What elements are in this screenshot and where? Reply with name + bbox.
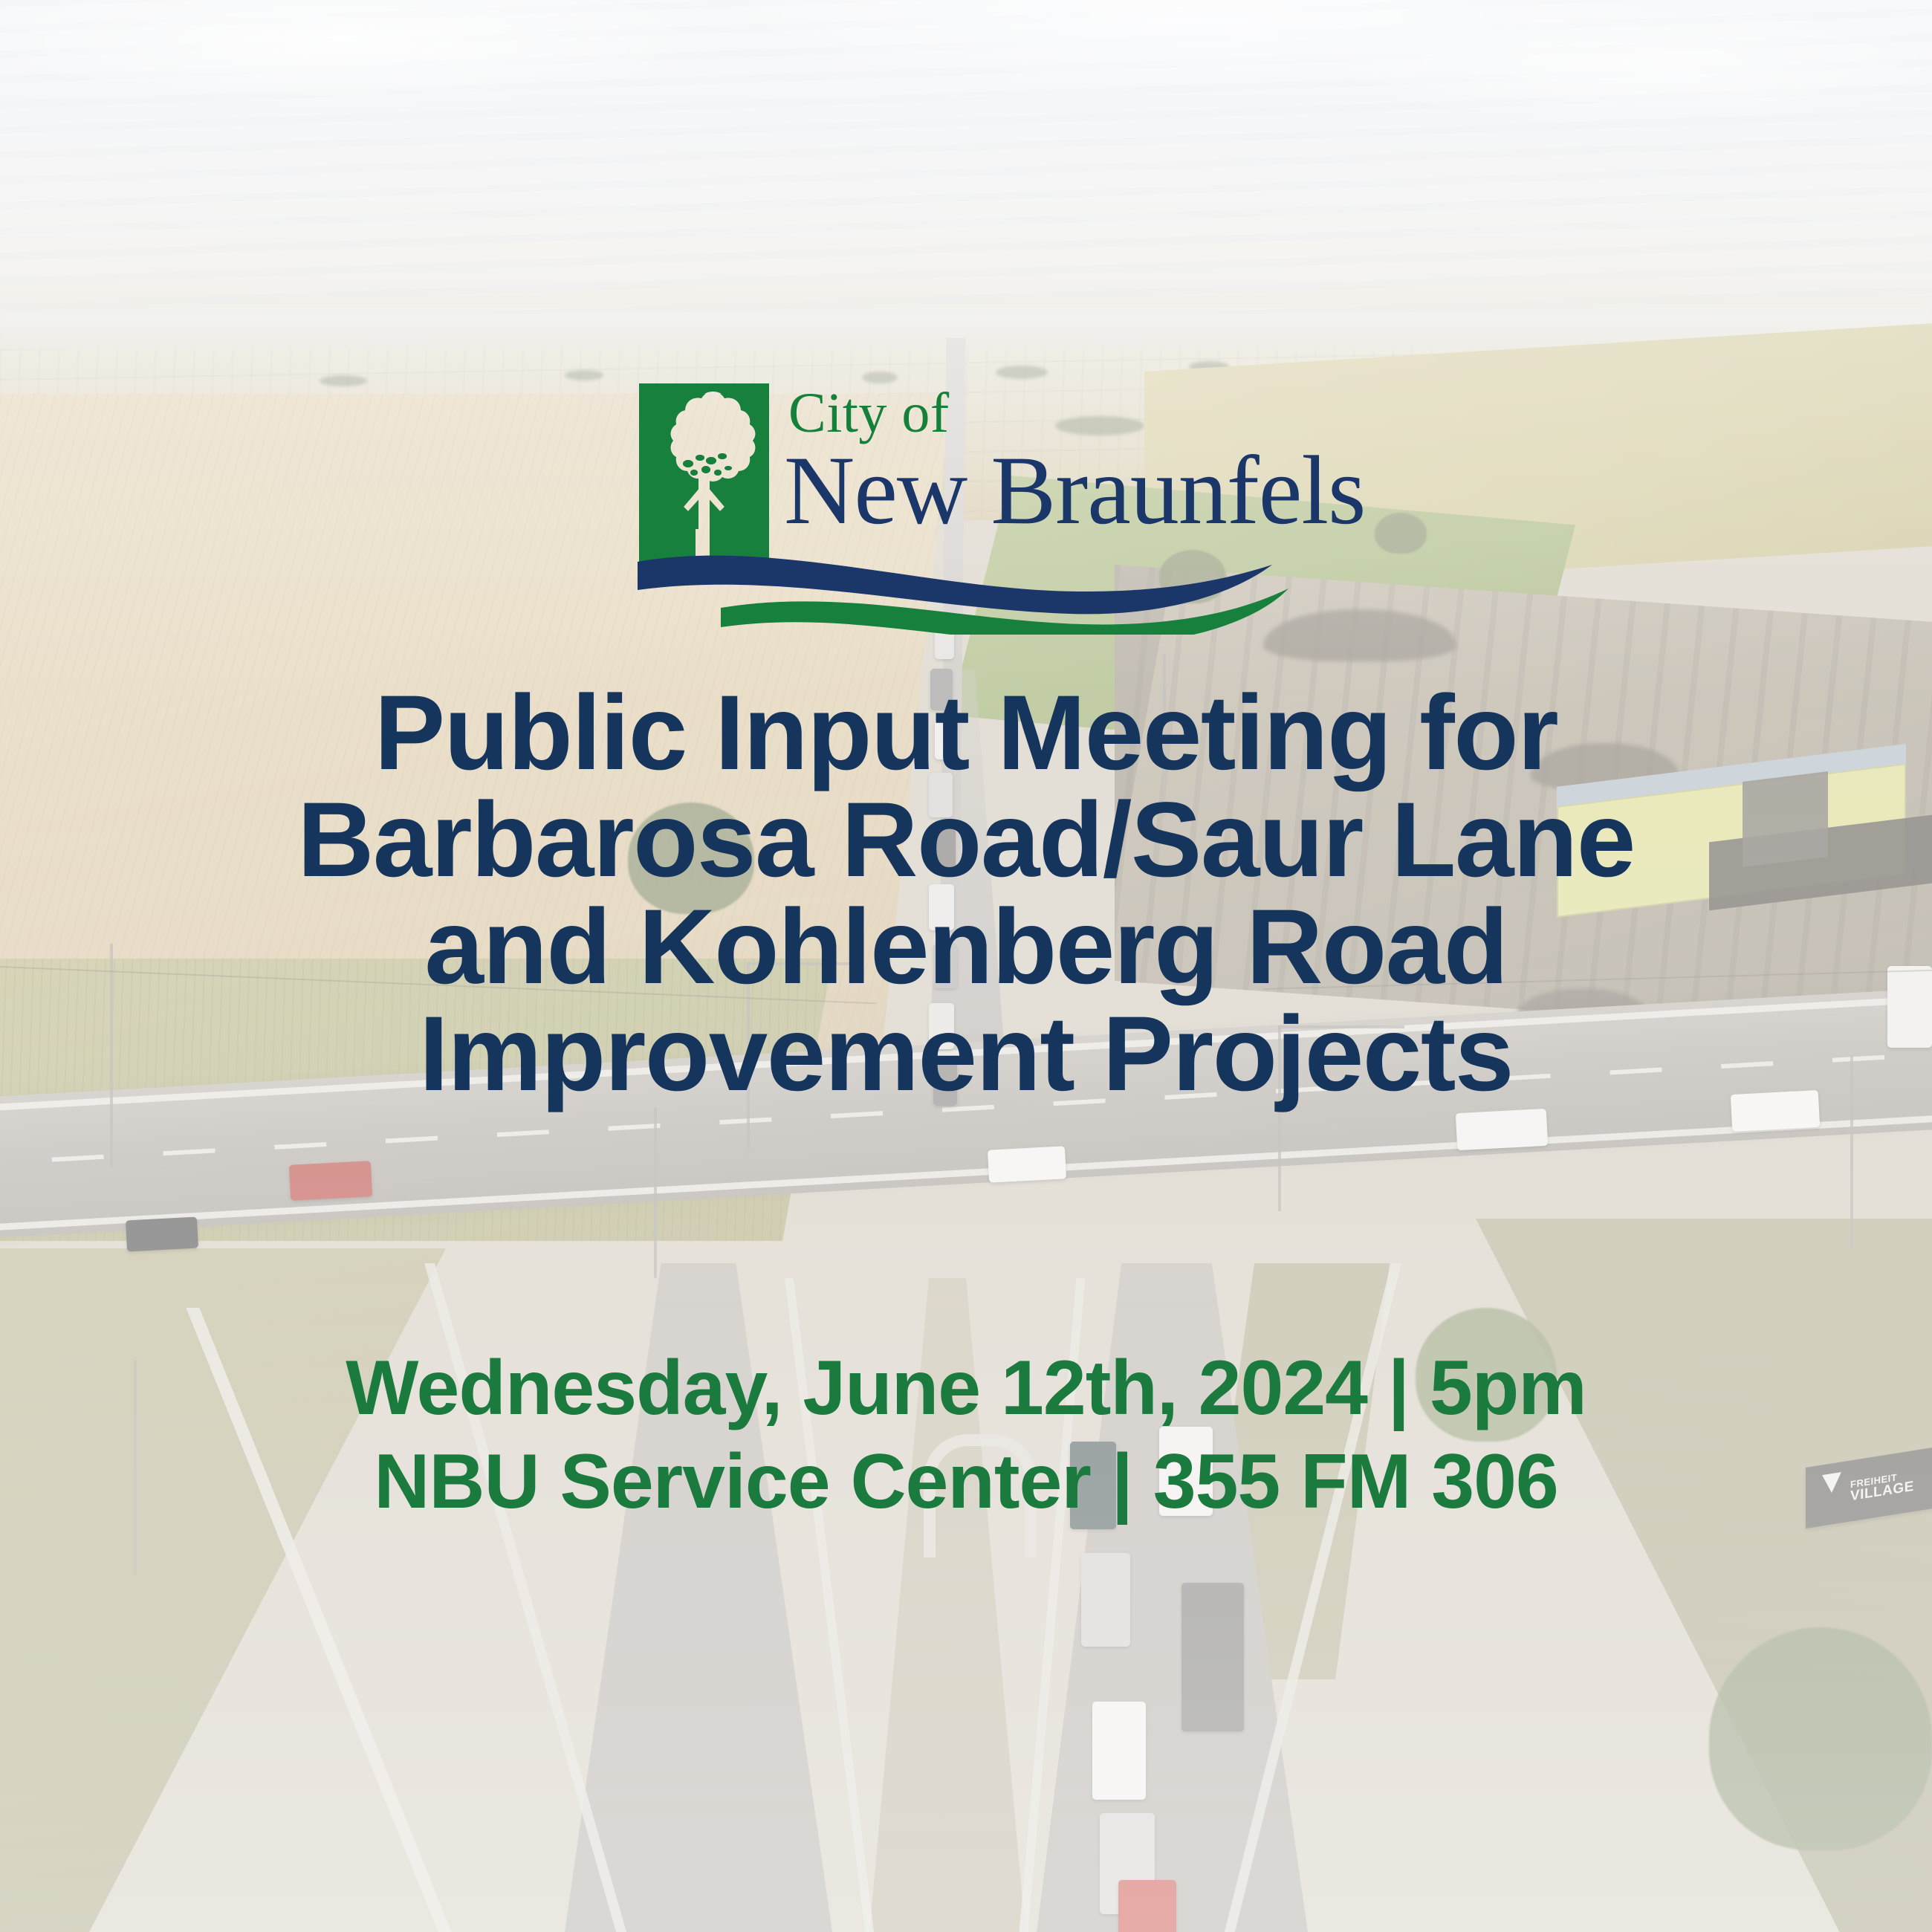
logo-new-braunfels: New Braunfels xyxy=(784,443,1297,538)
city-logo: City of New Braunfels xyxy=(639,383,1293,629)
page-title: Public Input Meeting for Barbarosa Road/… xyxy=(104,680,1828,1108)
oak-tree-shield-icon xyxy=(639,383,769,568)
logo-swoosh-icon xyxy=(632,545,1293,635)
headline-line-4: Improvement Projects xyxy=(104,1001,1828,1108)
headline-line-3: and Kohlenberg Road xyxy=(104,894,1828,1001)
event-datetime: Wednesday, June 12th, 2024 | 5pm xyxy=(104,1341,1828,1435)
logo-wordmark: City of New Braunfels xyxy=(784,383,1297,538)
logo-city-of: City of xyxy=(788,383,1297,443)
event-details: Wednesday, June 12th, 2024 | 5pm NBU Ser… xyxy=(104,1341,1828,1529)
flyer-content: City of New Braunfels Public Input Meeti… xyxy=(0,0,1932,1932)
headline-line-2: Barbarosa Road/Saur Lane xyxy=(104,787,1828,894)
headline-line-1: Public Input Meeting for xyxy=(104,680,1828,787)
event-location: NBU Service Center | 355 FM 306 xyxy=(104,1435,1828,1529)
flyer-canvas: FREIHEIT VILLAGE xyxy=(0,0,1932,1932)
